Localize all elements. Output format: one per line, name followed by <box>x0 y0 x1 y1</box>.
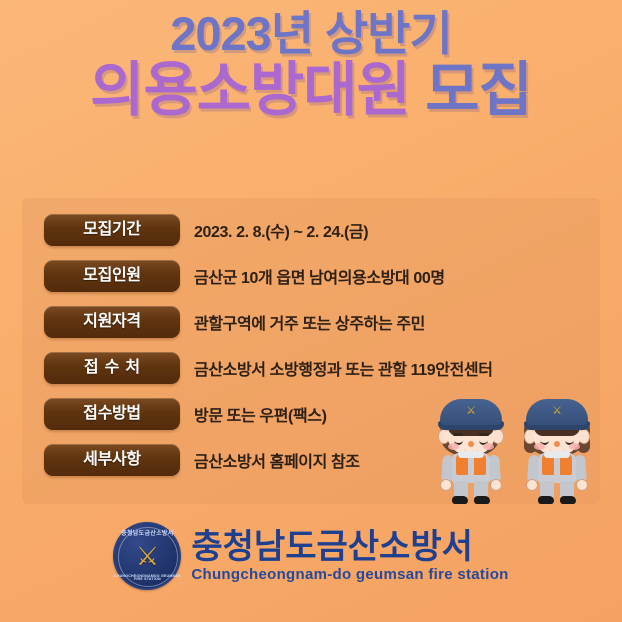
collar-icon <box>544 451 570 458</box>
cheek-blush-icon <box>534 443 545 450</box>
row-label-text: 접수처 <box>78 360 146 376</box>
row-value: 관할구역에 거주 또는 상주하는 주민 <box>194 306 425 338</box>
row-label-text: 모집인원 <box>83 268 141 284</box>
row-label-badge: 모집기간 <box>44 214 180 246</box>
table-row: 접수처 금산소방서 소방행정과 또는 관할 119안전센터 <box>44 352 584 398</box>
emblem-top-text: 충청남도금산소방서 <box>113 531 181 537</box>
row-label-text: 접수방법 <box>83 406 141 422</box>
boot-icon <box>474 496 490 504</box>
male-firefighter-mascot: ⚔ <box>432 393 510 505</box>
emblem-bottom-text: CHUNGCHEONGNAMDO GEUMSAN FIRE STATION <box>113 575 181 582</box>
emblem-eagle-icon: ⚔ <box>136 543 159 569</box>
row-label-badge: 접수처 <box>44 352 180 384</box>
boot-icon <box>560 496 576 504</box>
row-label-badge: 접수방법 <box>44 398 180 430</box>
row-label-text: 지원자격 <box>83 314 141 330</box>
row-value: 금산소방서 홈페이지 참조 <box>194 444 360 476</box>
row-value: 금산소방서 소방행정과 또는 관할 119안전센터 <box>194 352 493 384</box>
footer-name-block: 충청남도금산소방서 Chungcheongnam-do geumsan fire… <box>191 530 508 582</box>
row-label-badge: 모집인원 <box>44 260 180 292</box>
title-recruit-word: 모집 <box>425 57 532 123</box>
collar-icon <box>458 451 484 458</box>
fire-station-emblem-icon: 충청남도금산소방서 ⚔ CHUNGCHEONGNAMDO GEUMSAN FIR… <box>113 522 181 590</box>
row-label-text: 세부사항 <box>83 452 141 468</box>
cap-eagle-emblem-icon: ⚔ <box>552 406 562 417</box>
table-row: 모집인원 금산군 10개 읍면 남여의용소방대 00명 <box>44 260 584 306</box>
title-line-2: 의용소방대원 모집 <box>0 61 622 120</box>
row-label-badge: 지원자격 <box>44 306 180 338</box>
footer-english-name: Chungcheongnam-do geumsan fire station <box>191 567 508 582</box>
table-row: 모집기간 2023. 2. 8.(수) ~ 2. 24.(금) <box>44 214 584 260</box>
title-highlight: 의용소방대원 <box>90 57 410 123</box>
row-value: 2023. 2. 8.(수) ~ 2. 24.(금) <box>194 214 368 246</box>
row-label-badge: 세부사항 <box>44 444 180 476</box>
row-value: 금산군 10개 읍면 남여의용소방대 00명 <box>194 260 445 292</box>
poster-title: 2023년 상반기 의용소방대원 모집 <box>0 10 622 120</box>
title-suffix <box>410 57 425 123</box>
hand-icon <box>576 479 588 491</box>
cap-eagle-emblem-icon: ⚔ <box>466 406 476 417</box>
female-firefighter-mascot: ⚔ <box>518 393 596 505</box>
row-label-text: 모집기간 <box>83 222 141 238</box>
cheek-blush-icon <box>483 443 494 450</box>
hand-icon <box>440 479 452 491</box>
title-line-1: 2023년 상반기 <box>0 10 622 57</box>
cheek-blush-icon <box>448 443 459 450</box>
footer-korean-name: 충청남도금산소방서 <box>191 530 508 564</box>
hand-icon <box>490 479 502 491</box>
cheek-blush-icon <box>569 443 580 450</box>
mascot-group: ⚔ <box>432 393 602 505</box>
row-value: 방문 또는 우편(팩스) <box>194 398 327 430</box>
table-row: 지원자격 관할구역에 거주 또는 상주하는 주민 <box>44 306 584 352</box>
boot-icon <box>538 496 554 504</box>
hand-icon <box>526 479 538 491</box>
eyebrow-icon <box>453 433 463 436</box>
footer-branding: 충청남도금산소방서 ⚔ CHUNGCHEONGNAMDO GEUMSAN FIR… <box>0 522 622 590</box>
boot-icon <box>452 496 468 504</box>
recruitment-poster: 2023년 상반기 의용소방대원 모집 모집기간 2023. 2. 8.(수) … <box>0 0 622 622</box>
eyebrow-icon <box>479 433 489 436</box>
